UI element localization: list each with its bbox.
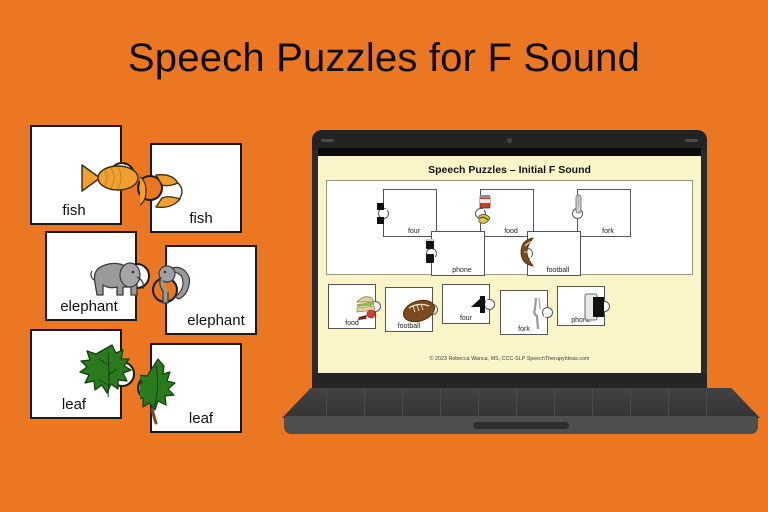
keyboard-seam	[554, 389, 555, 416]
mini-piece-food-right[interactable]: food	[480, 189, 534, 237]
keyboard-seam	[326, 389, 327, 416]
laptop-screen[interactable]: Speech Puzzles – Initial F Sound four	[318, 156, 701, 373]
puzzle-piece-leaf-right[interactable]: leaf	[150, 343, 242, 433]
puzzle-piece-fish-left[interactable]: fish	[30, 125, 122, 225]
worksheet-answer-box[interactable]: four food	[326, 180, 693, 275]
keyboard-seam	[706, 389, 707, 416]
number-four-icon	[469, 295, 491, 315]
poster-canvas: Speech Puzzles for F Sound fish	[0, 0, 768, 512]
mini-piece-phone-right[interactable]: phone	[431, 231, 485, 276]
laptop-bezel	[312, 130, 707, 150]
left-puzzle-group: fish fish	[0, 0, 290, 512]
puzzle-piece-leaf-left[interactable]: leaf	[30, 329, 122, 419]
tray-piece-phone[interactable]: phone	[557, 286, 605, 326]
tray-piece-label: food	[329, 320, 375, 327]
puzzle-piece-label: elephant	[47, 298, 135, 315]
puzzle-notch-neck	[164, 281, 172, 299]
keyboard-seam	[364, 389, 365, 416]
bezel-vent-left	[321, 139, 334, 142]
mini-piece-label: four	[384, 228, 436, 235]
keyboard-seam	[440, 389, 441, 416]
screen-top-bar	[318, 148, 701, 156]
phone-icon	[426, 239, 440, 265]
worksheet-footer: © 2023 Rebecca Wanca, MS, CCC-SLP Speech…	[318, 356, 701, 362]
puzzle-piece-elephant-right[interactable]: elephant	[165, 245, 257, 335]
tray-piece-fork[interactable]: fork	[500, 290, 548, 335]
puzzle-piece-label: fish	[152, 210, 240, 227]
puzzle-tab-neck	[115, 166, 123, 184]
puzzle-piece-label: leaf	[152, 410, 240, 427]
webcam-icon	[507, 138, 512, 143]
puzzle-piece-fish-right[interactable]: fish	[150, 143, 242, 233]
puzzle-piece-elephant-left[interactable]: elephant	[45, 231, 137, 321]
tray-piece-four[interactable]: four	[442, 284, 490, 324]
fork-icon	[531, 297, 545, 331]
puzzle-tab-neck	[115, 365, 123, 383]
keyboard-seam	[478, 389, 479, 416]
laptop-keyboard-deck	[282, 388, 760, 418]
laptop-front-notch	[473, 422, 569, 429]
puzzle-notch-neck	[149, 179, 157, 197]
fork-icon	[573, 194, 585, 220]
keyboard-seam	[516, 389, 517, 416]
mini-piece-four-right[interactable]: four	[383, 189, 437, 237]
food-can-icon	[475, 194, 495, 232]
puzzle-piece-label: leaf	[32, 396, 120, 413]
sandwich-icon	[355, 293, 381, 321]
keyboard-seam	[402, 389, 403, 416]
tray-piece-food[interactable]: food	[328, 284, 376, 329]
keyboard-seam	[668, 389, 669, 416]
keyboard-seam	[630, 389, 631, 416]
mini-piece-label: football	[528, 267, 580, 274]
number-four-icon	[377, 202, 391, 226]
puzzle-piece-label: fish	[32, 202, 120, 219]
tray-piece-football[interactable]: football	[385, 287, 433, 332]
phone-icon	[584, 292, 606, 322]
tray-piece-label: four	[443, 315, 489, 322]
worksheet-title: Speech Puzzles – Initial F Sound	[318, 164, 701, 176]
puzzle-notch-neck	[149, 379, 157, 397]
mini-piece-label: phone	[432, 267, 484, 274]
football-icon	[402, 297, 436, 325]
puzzle-tab-neck	[130, 267, 138, 285]
mini-piece-football-right[interactable]: football	[527, 231, 581, 276]
mini-piece-label: fork	[578, 228, 630, 235]
puzzle-piece-label: elephant	[167, 312, 255, 329]
football-icon	[519, 237, 541, 267]
keyboard-seam	[592, 389, 593, 416]
laptop-mockup: Speech Puzzles – Initial F Sound four	[282, 130, 760, 434]
bezel-vent-right	[685, 139, 698, 142]
mini-piece-fork-right[interactable]: fork	[577, 189, 631, 237]
